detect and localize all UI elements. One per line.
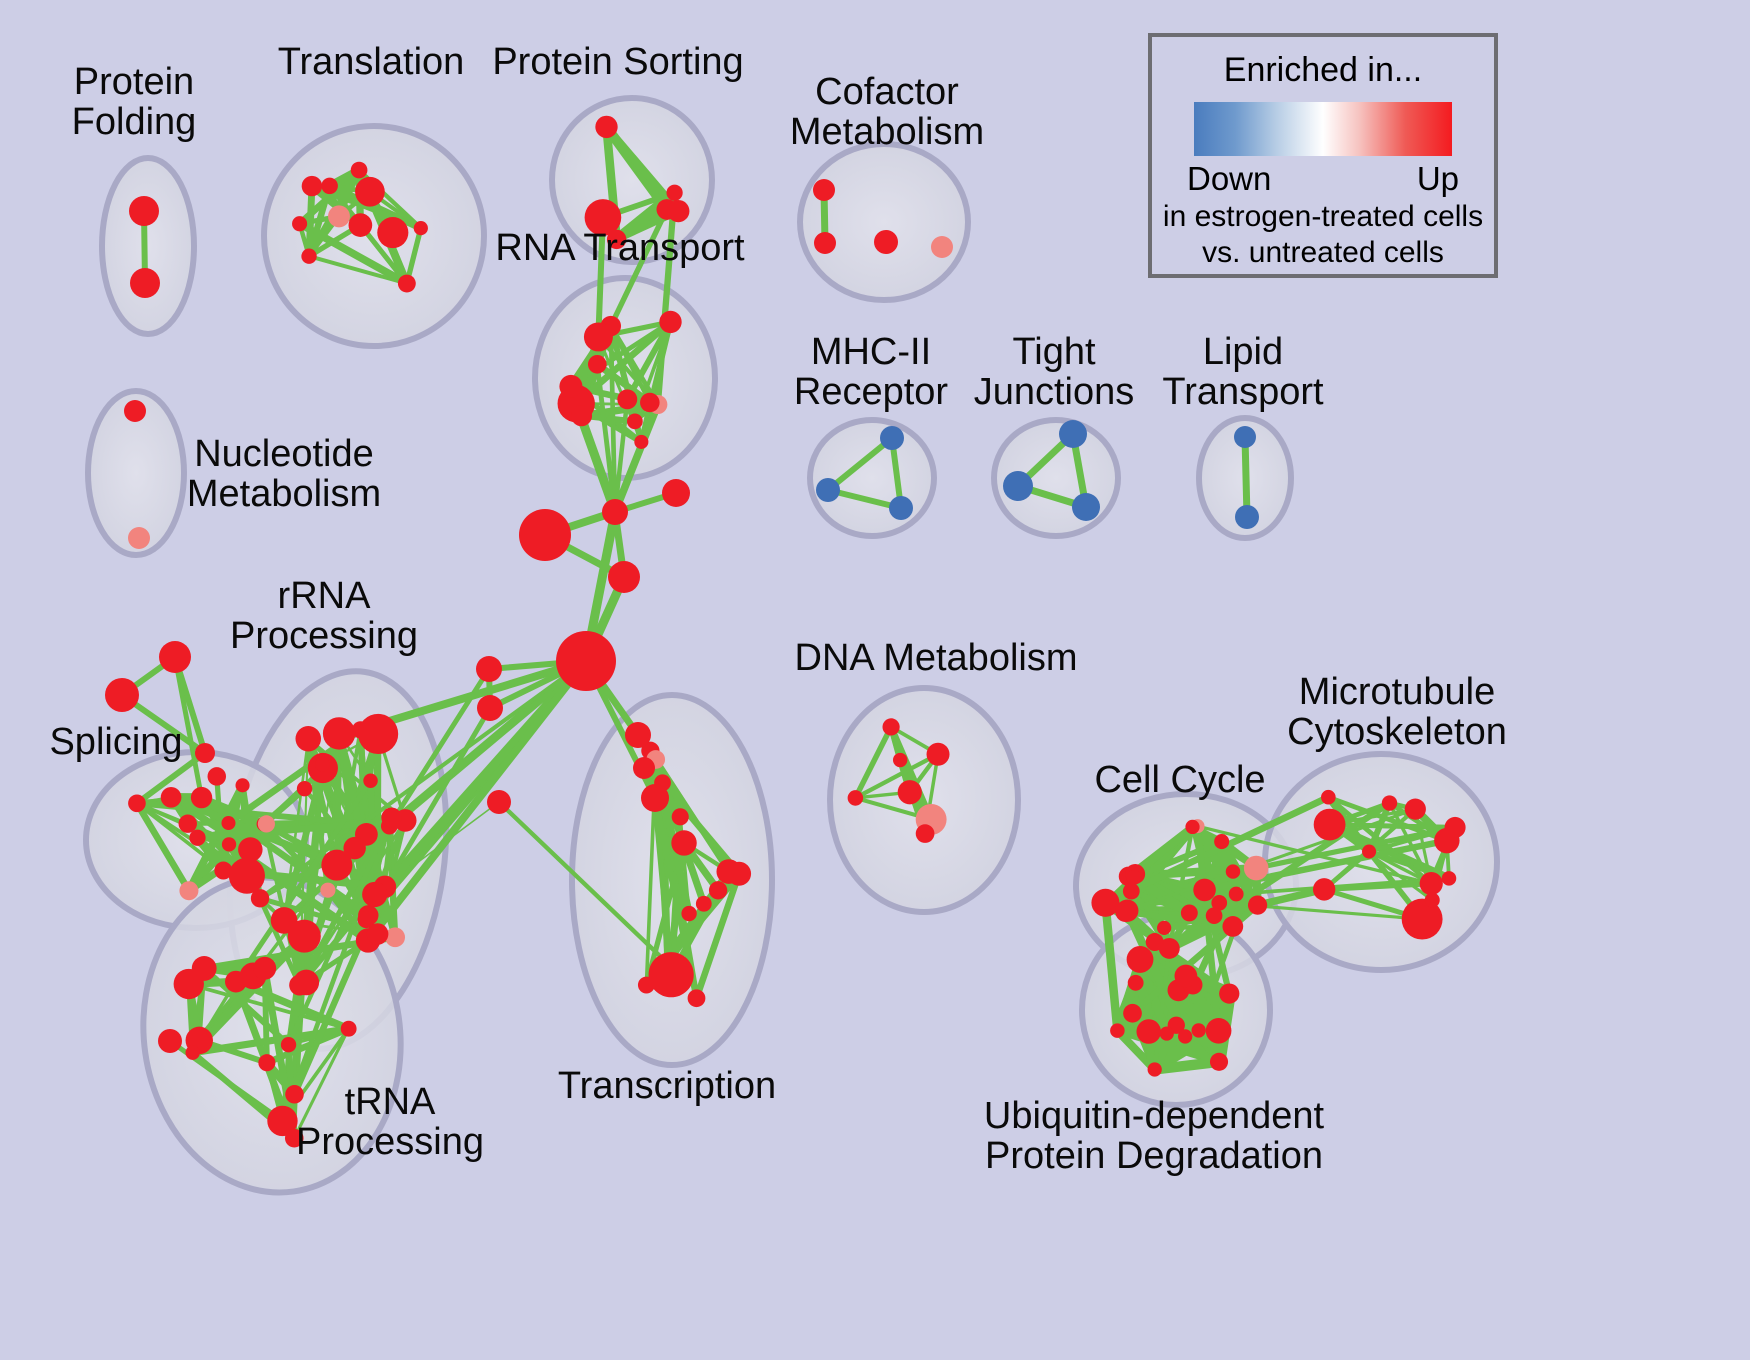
network-node[interactable] xyxy=(225,971,247,993)
network-node[interactable] xyxy=(477,695,503,721)
cluster-label-text: Nucleotide Metabolism xyxy=(187,434,381,515)
network-node[interactable] xyxy=(130,268,160,298)
network-node[interactable] xyxy=(1214,834,1229,849)
network-node[interactable] xyxy=(179,881,198,900)
network-node[interactable] xyxy=(672,808,689,825)
network-node[interactable] xyxy=(1175,965,1198,988)
network-node[interactable] xyxy=(1445,817,1466,838)
network-node[interactable] xyxy=(349,213,373,237)
network-node[interactable] xyxy=(189,830,205,846)
network-node[interactable] xyxy=(1128,975,1144,991)
network-node[interactable] xyxy=(221,816,235,830)
cluster-hull-translation xyxy=(264,126,484,346)
network-node[interactable] xyxy=(688,989,706,1007)
cluster-label-text: RNA Transport xyxy=(495,228,744,268)
network-node[interactable] xyxy=(385,927,405,947)
network-node[interactable] xyxy=(556,631,616,691)
network-node[interactable] xyxy=(1127,870,1142,885)
cluster-label-text: MHC-II Receptor xyxy=(794,332,948,413)
cluster-label-text: Microtubule Cytoskeleton xyxy=(1287,672,1507,753)
network-node[interactable] xyxy=(358,714,398,754)
legend-title: Enriched in... xyxy=(1152,51,1494,90)
network-node[interactable] xyxy=(1206,1018,1232,1044)
network-node[interactable] xyxy=(159,641,191,673)
network-node[interactable] xyxy=(1110,1023,1125,1038)
network-node[interactable] xyxy=(667,200,689,222)
network-node[interactable] xyxy=(927,743,950,766)
network-node[interactable] xyxy=(323,717,355,749)
network-node[interactable] xyxy=(1210,1053,1228,1071)
network-node[interactable] xyxy=(519,509,571,561)
network-node[interactable] xyxy=(916,824,935,843)
network-node[interactable] xyxy=(128,527,150,549)
network-node[interactable] xyxy=(320,883,335,898)
network-node[interactable] xyxy=(288,920,321,953)
cluster-label-text: Transcription xyxy=(558,1066,776,1106)
network-node[interactable] xyxy=(1003,471,1033,501)
network-node[interactable] xyxy=(1146,933,1164,951)
network-node[interactable] xyxy=(889,496,913,520)
legend-down-label: Down xyxy=(1187,160,1271,198)
network-node[interactable] xyxy=(1219,983,1239,1003)
network-node[interactable] xyxy=(1321,790,1336,805)
network-node[interactable] xyxy=(595,116,617,138)
network-node[interactable] xyxy=(1235,505,1259,529)
network-node[interactable] xyxy=(1123,883,1140,900)
network-node[interactable] xyxy=(293,970,319,996)
network-node[interactable] xyxy=(1442,871,1457,886)
cluster-label-text: Ubiquitin-dependent Protein Degradation xyxy=(984,1096,1324,1177)
network-node[interactable] xyxy=(355,177,385,207)
network-node[interactable] xyxy=(848,790,864,806)
network-node[interactable] xyxy=(377,217,408,248)
network-node[interactable] xyxy=(253,957,276,980)
network-node[interactable] xyxy=(571,405,592,426)
network-node[interactable] xyxy=(1425,893,1440,908)
network-node[interactable] xyxy=(341,1021,357,1037)
network-node[interactable] xyxy=(649,952,694,997)
network-node[interactable] xyxy=(1123,1004,1142,1023)
network-node[interactable] xyxy=(662,479,690,507)
network-node[interactable] xyxy=(893,753,907,767)
network-node[interactable] xyxy=(1157,921,1171,935)
network-node[interactable] xyxy=(1405,799,1426,820)
legend-gradient-bar xyxy=(1194,102,1452,156)
network-node[interactable] xyxy=(292,216,307,231)
network-node[interactable] xyxy=(588,355,607,374)
network-node[interactable] xyxy=(315,757,330,772)
network-node[interactable] xyxy=(1192,1023,1206,1037)
network-node[interactable] xyxy=(1072,493,1100,521)
network-node[interactable] xyxy=(1136,1019,1161,1044)
network-node[interactable] xyxy=(476,656,502,682)
network-node[interactable] xyxy=(559,375,582,398)
network-node[interactable] xyxy=(297,781,312,796)
network-node[interactable] xyxy=(709,881,727,899)
network-edge xyxy=(1245,437,1247,517)
network-node[interactable] xyxy=(1185,820,1199,834)
cluster-label-text: Cofactor Metabolism xyxy=(790,72,984,153)
network-node[interactable] xyxy=(813,179,835,201)
network-node[interactable] xyxy=(625,722,651,748)
network-node[interactable] xyxy=(295,726,321,752)
cluster-label-text: tRNA Processing xyxy=(296,1082,484,1163)
legend-caption-line2: vs. untreated cells xyxy=(1152,236,1494,270)
cluster-label-text: Protein Sorting xyxy=(492,42,743,82)
network-node[interactable] xyxy=(1420,872,1443,895)
network-node[interactable] xyxy=(236,778,250,792)
network-node[interactable] xyxy=(671,830,696,855)
network-node[interactable] xyxy=(1226,864,1240,878)
network-node[interactable] xyxy=(1160,1026,1174,1040)
network-node[interactable] xyxy=(124,400,146,422)
network-node[interactable] xyxy=(414,221,428,235)
network-node[interactable] xyxy=(816,478,840,502)
network-node[interactable] xyxy=(258,815,275,832)
network-node[interactable] xyxy=(898,780,922,804)
network-node[interactable] xyxy=(640,393,660,413)
legend-up-label: Up xyxy=(1417,160,1459,198)
network-node[interactable] xyxy=(617,389,637,409)
network-node[interactable] xyxy=(681,906,696,921)
network-node[interactable] xyxy=(584,322,613,351)
network-node[interactable] xyxy=(1148,1062,1162,1076)
network-node[interactable] xyxy=(328,205,350,227)
network-node[interactable] xyxy=(191,787,212,808)
network-node[interactable] xyxy=(129,196,159,226)
cluster-label-text: rRNA Processing xyxy=(230,576,418,657)
network-node[interactable] xyxy=(1193,879,1216,902)
network-node[interactable] xyxy=(229,858,265,894)
cluster-label-text: Tight Junctions xyxy=(974,332,1135,413)
network-node[interactable] xyxy=(222,837,236,851)
network-node[interactable] xyxy=(634,435,648,449)
cluster-label-text: Protein Folding xyxy=(72,62,197,143)
network-node[interactable] xyxy=(1362,844,1376,858)
cluster-label-text: Cell Cycle xyxy=(1094,760,1265,800)
network-node[interactable] xyxy=(882,718,899,735)
cluster-hull-mhc-ii-receptor xyxy=(810,420,934,536)
enrichment-network-figure: Enriched in... Down Up in estrogen-treat… xyxy=(0,0,1750,1360)
cluster-label-text: Lipid Transport xyxy=(1162,332,1323,413)
network-node[interactable] xyxy=(666,185,682,201)
network-node[interactable] xyxy=(343,837,365,859)
network-node[interactable] xyxy=(1115,902,1135,922)
network-node[interactable] xyxy=(398,275,416,293)
network-node[interactable] xyxy=(874,230,898,254)
network-node[interactable] xyxy=(367,923,389,945)
network-node[interactable] xyxy=(931,236,953,258)
cluster-label-text: Translation xyxy=(278,42,465,82)
cluster-label-text: DNA Metabolism xyxy=(795,638,1078,678)
network-node[interactable] xyxy=(179,815,197,833)
legend-caption-line1: in estrogen-treated cells xyxy=(1152,200,1494,234)
network-node[interactable] xyxy=(128,794,146,812)
network-node[interactable] xyxy=(1127,946,1154,973)
network-node[interactable] xyxy=(1234,426,1256,448)
network-node[interactable] xyxy=(487,790,511,814)
network-node[interactable] xyxy=(158,1029,182,1053)
network-node[interactable] xyxy=(627,413,643,429)
network-node[interactable] xyxy=(351,162,368,179)
network-node[interactable] xyxy=(602,499,628,525)
network-node[interactable] xyxy=(1178,1029,1192,1043)
network-node[interactable] xyxy=(696,896,712,912)
network-node[interactable] xyxy=(363,774,377,788)
network-node[interactable] xyxy=(381,808,401,828)
network-node[interactable] xyxy=(302,176,322,196)
network-node[interactable] xyxy=(185,1045,199,1059)
network-node[interactable] xyxy=(814,232,836,254)
network-node[interactable] xyxy=(716,859,741,884)
network-node[interactable] xyxy=(281,1037,296,1052)
network-node[interactable] xyxy=(1229,887,1244,902)
network-node[interactable] xyxy=(161,787,182,808)
network-node[interactable] xyxy=(1248,896,1267,915)
network-node[interactable] xyxy=(301,249,316,264)
network-node[interactable] xyxy=(105,678,139,712)
network-node[interactable] xyxy=(608,561,640,593)
network-node[interactable] xyxy=(1382,795,1397,810)
network-node[interactable] xyxy=(1206,907,1223,924)
network-node[interactable] xyxy=(659,311,681,333)
network-node[interactable] xyxy=(208,767,226,785)
cluster-label-text: Splicing xyxy=(49,722,182,762)
network-node[interactable] xyxy=(1244,856,1269,881)
network-node[interactable] xyxy=(880,426,904,450)
network-node[interactable] xyxy=(641,784,669,812)
network-node[interactable] xyxy=(1314,809,1346,841)
network-node[interactable] xyxy=(1222,916,1243,937)
network-node[interactable] xyxy=(1059,420,1087,448)
network-node[interactable] xyxy=(258,1054,275,1071)
legend-panel: Enriched in... Down Up in estrogen-treat… xyxy=(1148,33,1498,278)
network-node[interactable] xyxy=(633,757,655,779)
network-node[interactable] xyxy=(362,882,387,907)
network-node[interactable] xyxy=(174,969,204,999)
network-node[interactable] xyxy=(1313,878,1335,900)
cluster-hull-protein-folding xyxy=(102,158,194,334)
network-node[interactable] xyxy=(195,743,215,763)
network-node[interactable] xyxy=(321,178,338,195)
network-node[interactable] xyxy=(1181,905,1198,922)
